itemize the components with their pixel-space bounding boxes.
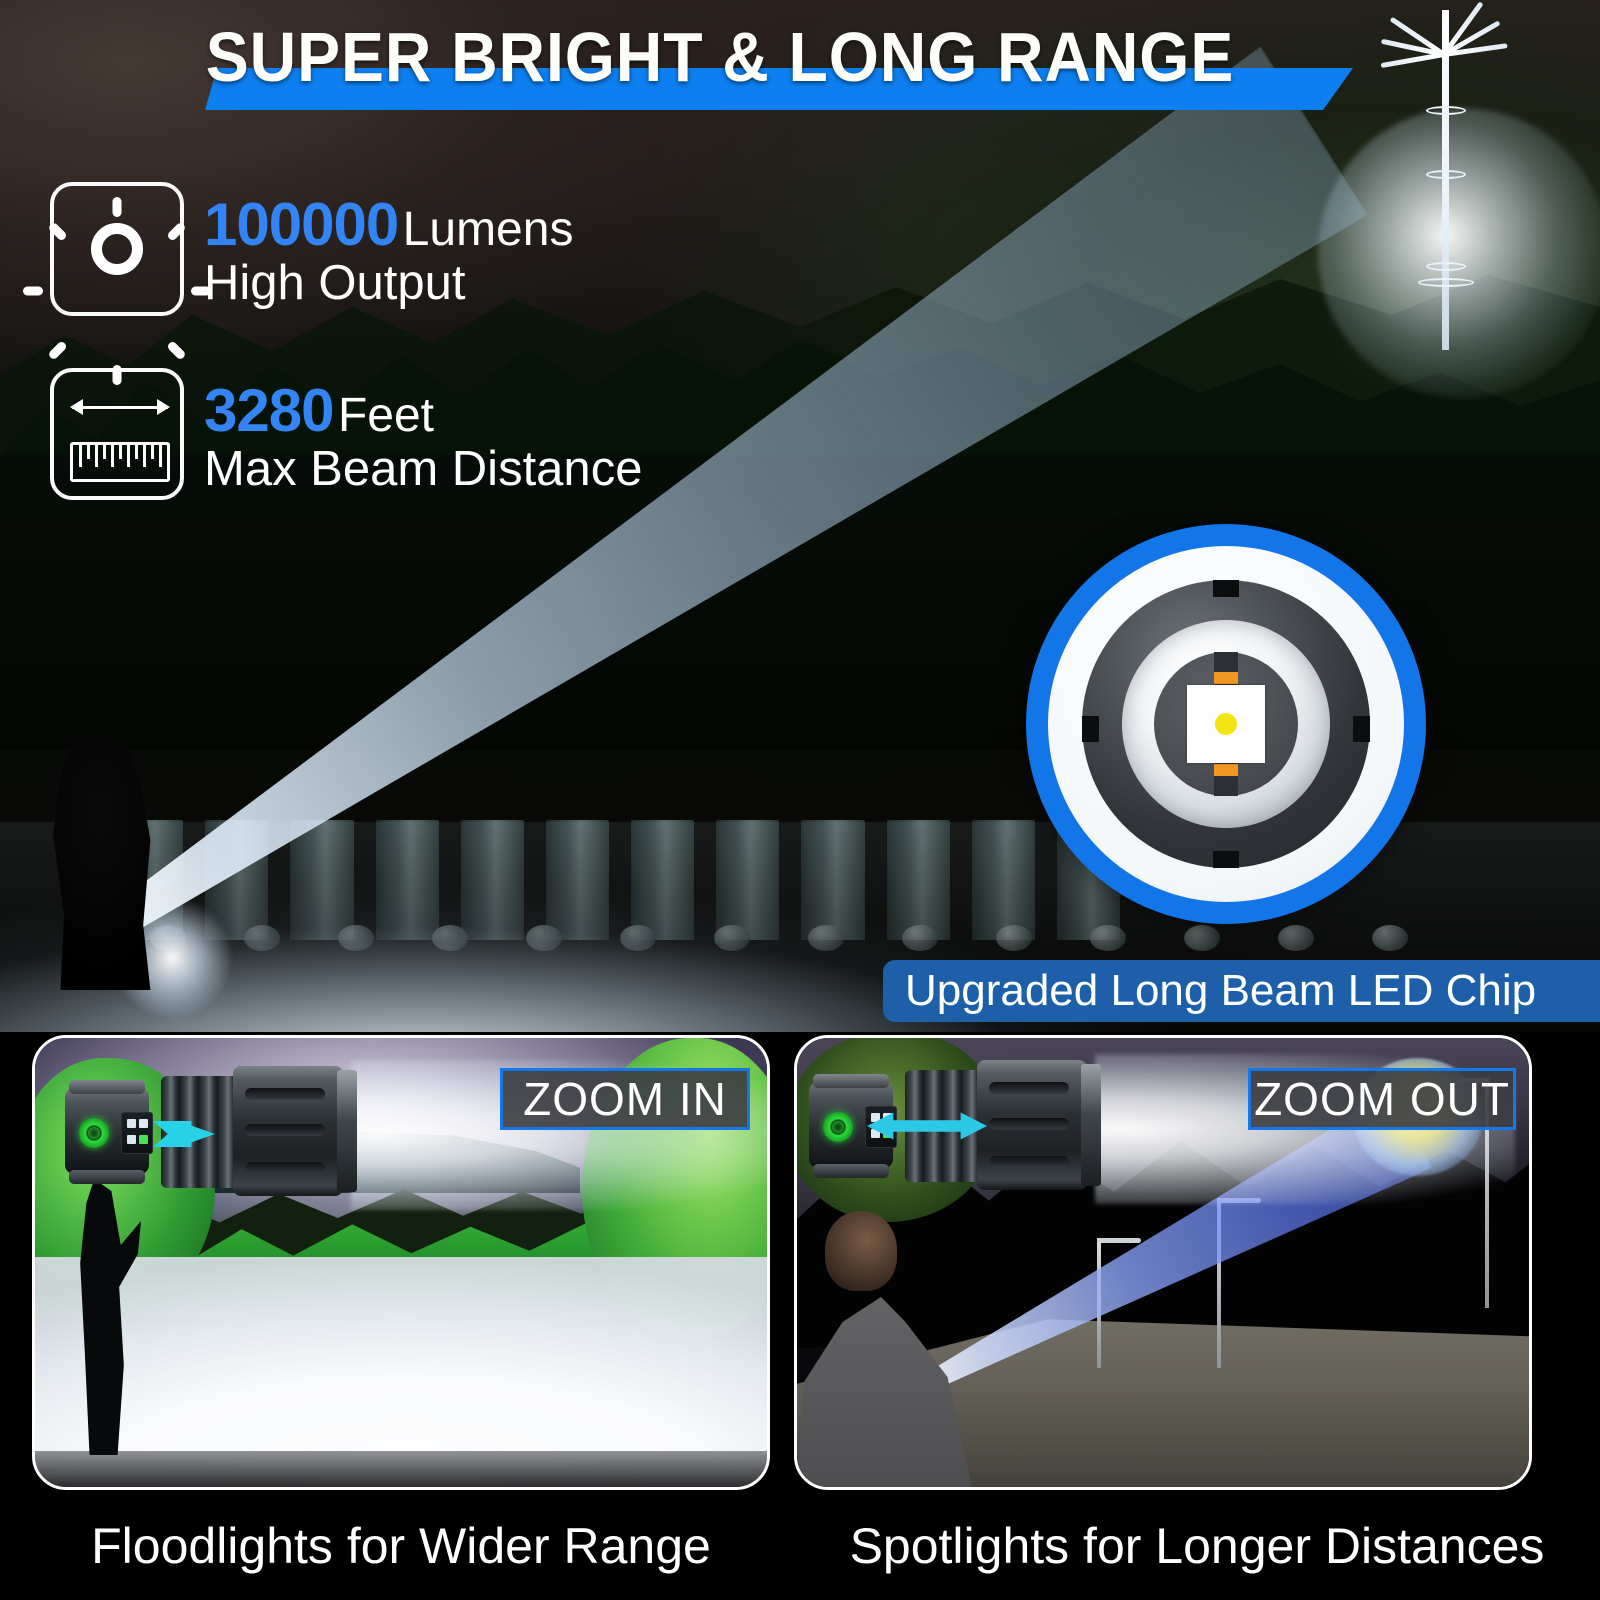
title-banner: SUPER BRIGHT & LONG RANGE (0, 10, 1600, 120)
battery-display (121, 1112, 153, 1154)
mode-gear-indicator-icon (79, 1118, 109, 1148)
spec-distance-unit: Feet (338, 389, 434, 442)
spec-distance-value: 3280 (204, 377, 333, 444)
badge-zoom-in: ZOOM IN (500, 1068, 750, 1130)
led-head-closeup (1026, 524, 1426, 924)
page-title: SUPER BRIGHT & LONG RANGE (58, 22, 1383, 92)
led-callout-label: Upgraded Long Beam LED Chip (883, 960, 1600, 1022)
spec-distance-caption: Max Beam Distance (204, 441, 642, 497)
hero-night-scene (0, 0, 1600, 1032)
spec-distance: 3280 Feet Max Beam Distance (50, 368, 642, 500)
spec-lumens-caption: High Output (204, 255, 573, 311)
badge-zoom-out: ZOOM OUT (1248, 1068, 1516, 1130)
brightness-sun-icon (50, 182, 184, 316)
spec-lumens: 100000 Lumens High Output (50, 182, 573, 316)
caption-flood: Floodlights for Wider Range (32, 1498, 770, 1594)
spec-lumens-value: 100000 (204, 191, 398, 258)
spec-lumens-unit: Lumens (403, 203, 574, 256)
mode-gear-indicator-icon (823, 1112, 853, 1142)
caption-spot: Spotlights for Longer Distances (794, 1498, 1600, 1594)
flashlight-flood (65, 1066, 365, 1196)
led-emitter-dot (1215, 713, 1237, 735)
distance-ruler-icon (50, 368, 184, 500)
flashlight-spot (809, 1060, 1109, 1190)
